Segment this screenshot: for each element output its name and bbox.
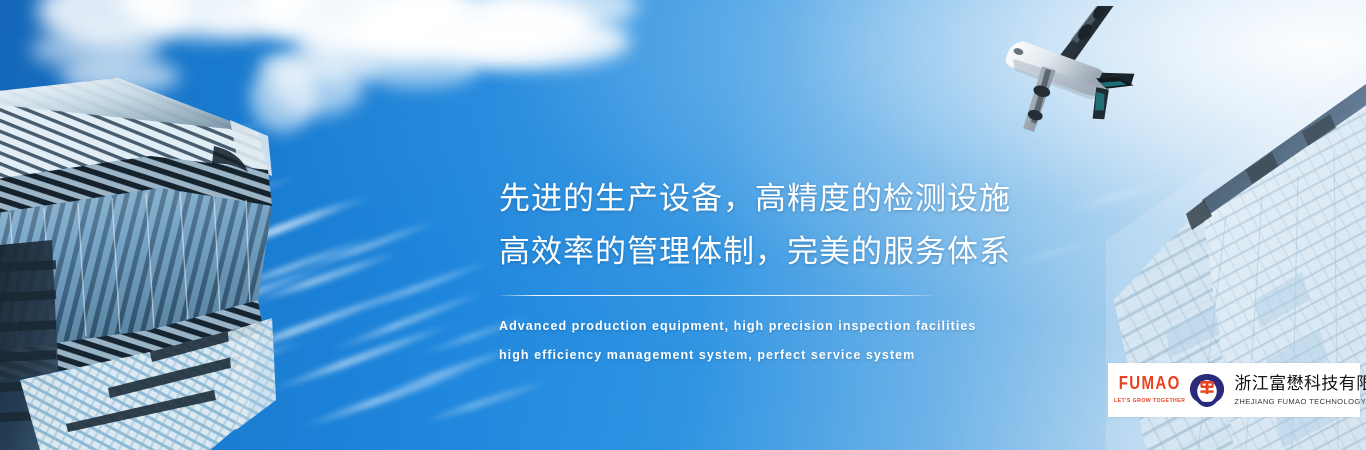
subline-line-1: Advanced production equipment, high prec… [499, 312, 1019, 341]
company-logo-plate[interactable]: FUMAO LET'S GROW TOGETHER 浙江富懋科技有限公司 ZHE… [1108, 363, 1360, 417]
fumao-wordmark-block: FUMAO LET'S GROW TOGETHER [1108, 376, 1185, 404]
subline-line-2: high efficiency management system, perfe… [499, 341, 1019, 370]
hero-banner: 先进的生产设备，高精度的检测设施 高效率的管理体制，完美的服务体系 Advanc… [0, 0, 1366, 450]
copy-divider [501, 295, 933, 296]
headline-line-2: 高效率的管理体制，完美的服务体系 [499, 225, 1019, 278]
wordmark-text: FUMAO [1119, 374, 1181, 394]
company-name-cn: 浙江富懋科技有限公司 [1234, 374, 1366, 394]
fumao-emblem-icon [1187, 370, 1227, 410]
hero-copy: 先进的生产设备，高精度的检测设施 高效率的管理体制，完美的服务体系 Advanc… [499, 172, 1019, 370]
headline-line-1: 先进的生产设备，高精度的检测设施 [499, 172, 1019, 225]
company-name-en: ZHEJIANG FUMAO TECHNOLOGY CO.,LTD [1234, 397, 1366, 406]
tagline-text: LET'S GROW TOGETHER [1114, 398, 1185, 404]
company-name-block: 浙江富懋科技有限公司 ZHEJIANG FUMAO TECHNOLOGY CO.… [1227, 374, 1366, 406]
